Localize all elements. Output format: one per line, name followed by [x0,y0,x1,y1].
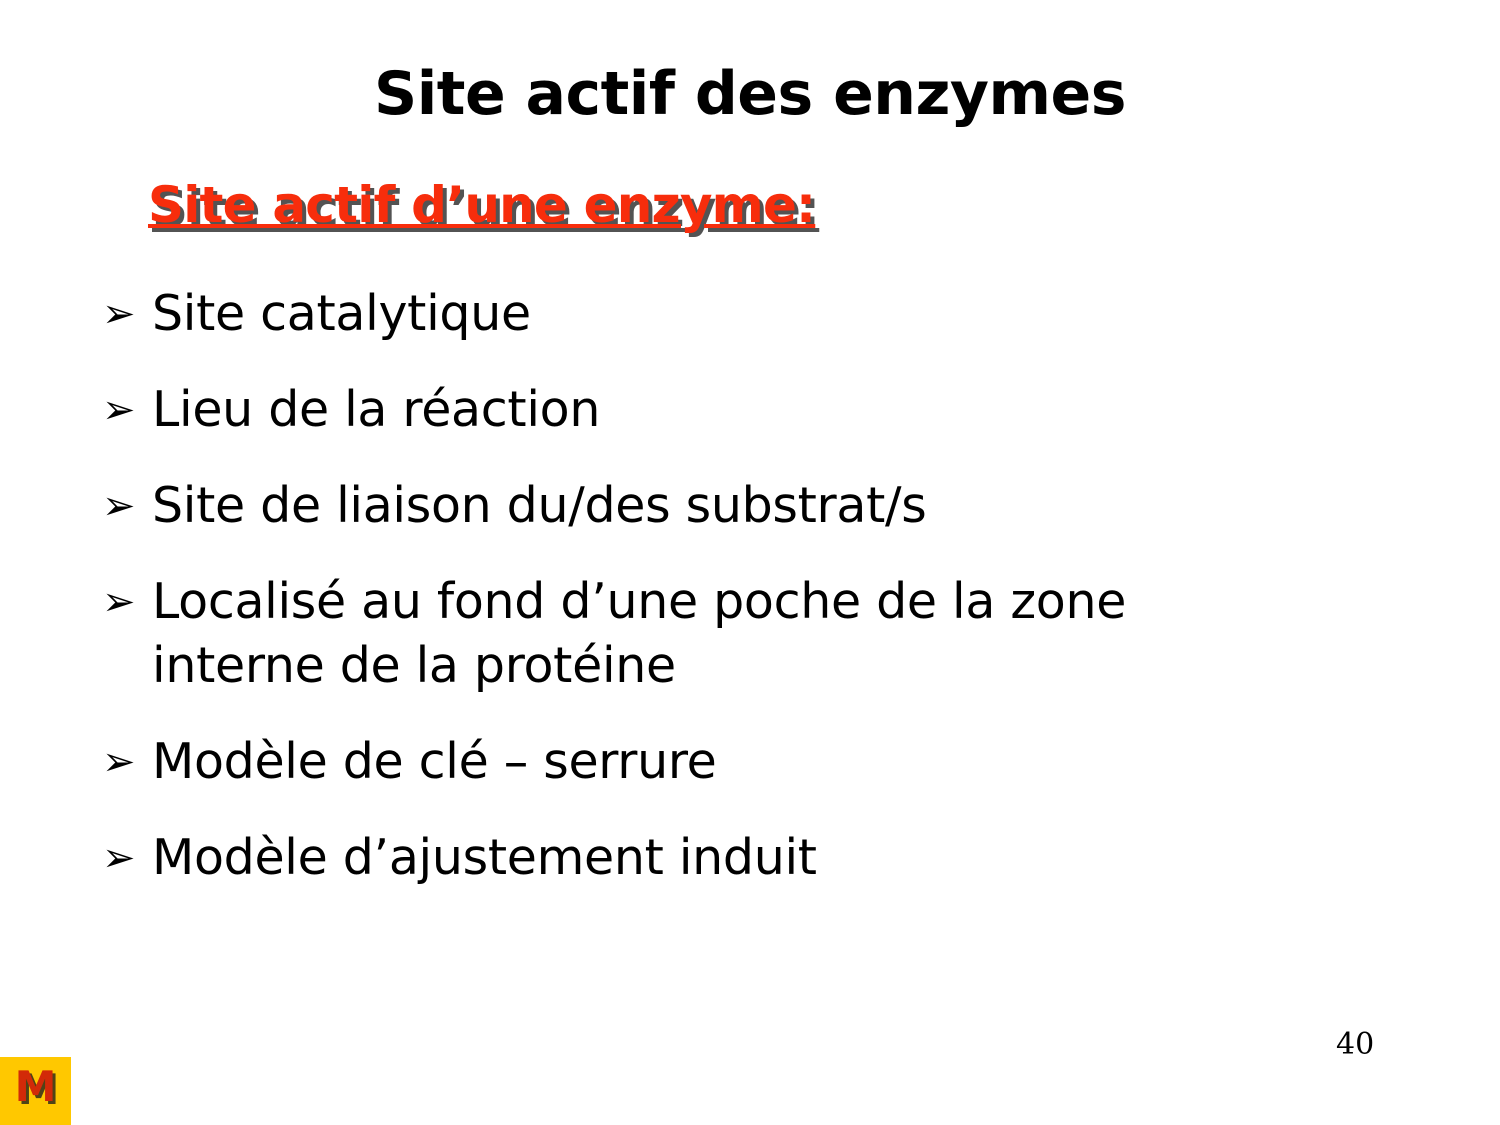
list-item: ➢ Localisé au fond d’une poche de la zon… [96,570,1356,698]
page-title: Site actif des enzymes [0,62,1500,127]
list-item-label: Site de liaison du/des substrat/s [152,474,1272,538]
logo-letter-m: M [0,1065,71,1109]
bullet-list: ➢ Site catalytique ➢ Lieu de la réaction… [96,282,1356,890]
list-item: ➢ Lieu de la réaction [96,378,1356,442]
arrowhead-bullet-icon: ➢ [96,282,152,346]
list-item: ➢ Modèle de clé – serrure [96,730,1356,794]
arrowhead-bullet-icon: ➢ [96,474,152,538]
list-item: ➢ Site de liaison du/des substrat/s [96,474,1356,538]
section-subheading: Site actif d’une enzyme: [148,178,815,233]
corner-logo: M [0,1057,71,1125]
page-number: 40 [1336,1030,1374,1060]
arrowhead-bullet-icon: ➢ [96,730,152,794]
list-item-label: Site catalytique [152,282,1272,346]
list-item: ➢ Site catalytique [96,282,1356,346]
slide-canvas: Site actif des enzymes Site actif d’une … [0,0,1500,1125]
arrowhead-bullet-icon: ➢ [96,826,152,890]
arrowhead-bullet-icon: ➢ [96,570,152,634]
list-item-label: Modèle d’ajustement induit [152,826,1272,890]
list-item-label: Modèle de clé – serrure [152,730,1272,794]
list-item: ➢ Modèle d’ajustement induit [96,826,1356,890]
arrowhead-bullet-icon: ➢ [96,378,152,442]
list-item-label: Lieu de la réaction [152,378,1272,442]
list-item-label: Localisé au fond d’une poche de la zone … [152,570,1267,698]
